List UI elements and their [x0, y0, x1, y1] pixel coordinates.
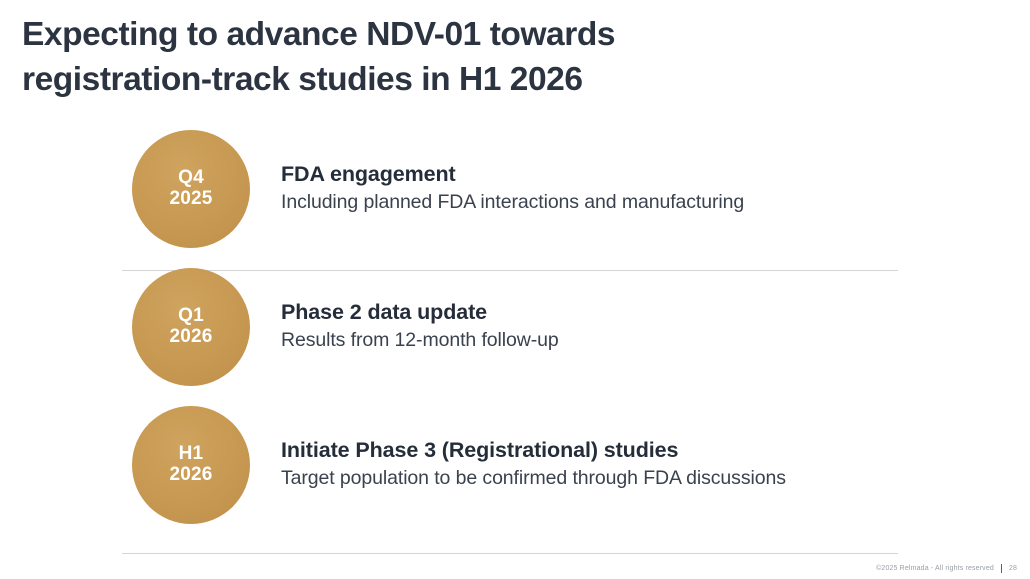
copyright-text: ©2025 Relmada - All rights reserved	[876, 565, 994, 572]
milestone-title: Initiate Phase 3 (Registrational) studie…	[281, 438, 786, 463]
milestone-badge: H1 2026	[132, 406, 250, 524]
timeline: Q4 2025 FDA engagement Including planned…	[0, 120, 1030, 534]
page-number: 28	[1009, 565, 1017, 572]
badge-year-label: 2026	[169, 327, 212, 348]
timeline-row: Q4 2025 FDA engagement Including planned…	[0, 120, 1030, 258]
badge-period-label: Q1	[178, 306, 204, 327]
milestone-text: Phase 2 data update Results from 12-mont…	[281, 300, 559, 354]
milestone-badge: Q1 2026	[132, 268, 250, 386]
milestone-text: FDA engagement Including planned FDA int…	[281, 162, 744, 216]
badge-year-label: 2025	[169, 189, 212, 210]
slide: Expecting to advance NDV-01 towards regi…	[0, 0, 1030, 579]
milestone-title: Phase 2 data update	[281, 300, 559, 325]
slide-footer: ©2025 Relmada - All rights reserved 28	[876, 564, 1017, 573]
milestone-badge: Q4 2025	[132, 130, 250, 248]
badge-period-label: H1	[179, 444, 204, 465]
badge-year-label: 2026	[169, 465, 212, 486]
milestone-subtitle: Including planned FDA interactions and m…	[281, 191, 744, 214]
milestone-text: Initiate Phase 3 (Registrational) studie…	[281, 438, 786, 492]
milestone-title: FDA engagement	[281, 162, 744, 187]
timeline-row: Q1 2026 Phase 2 data update Results from…	[0, 258, 1030, 396]
milestone-subtitle: Target population to be confirmed throug…	[281, 467, 786, 490]
timeline-row: H1 2026 Initiate Phase 3 (Registrational…	[0, 396, 1030, 534]
badge-period-label: Q4	[178, 168, 204, 189]
row-divider	[122, 553, 898, 554]
page-title: Expecting to advance NDV-01 towards regi…	[22, 13, 812, 102]
milestone-subtitle: Results from 12-month follow-up	[281, 329, 559, 352]
footer-separator	[1001, 564, 1002, 573]
